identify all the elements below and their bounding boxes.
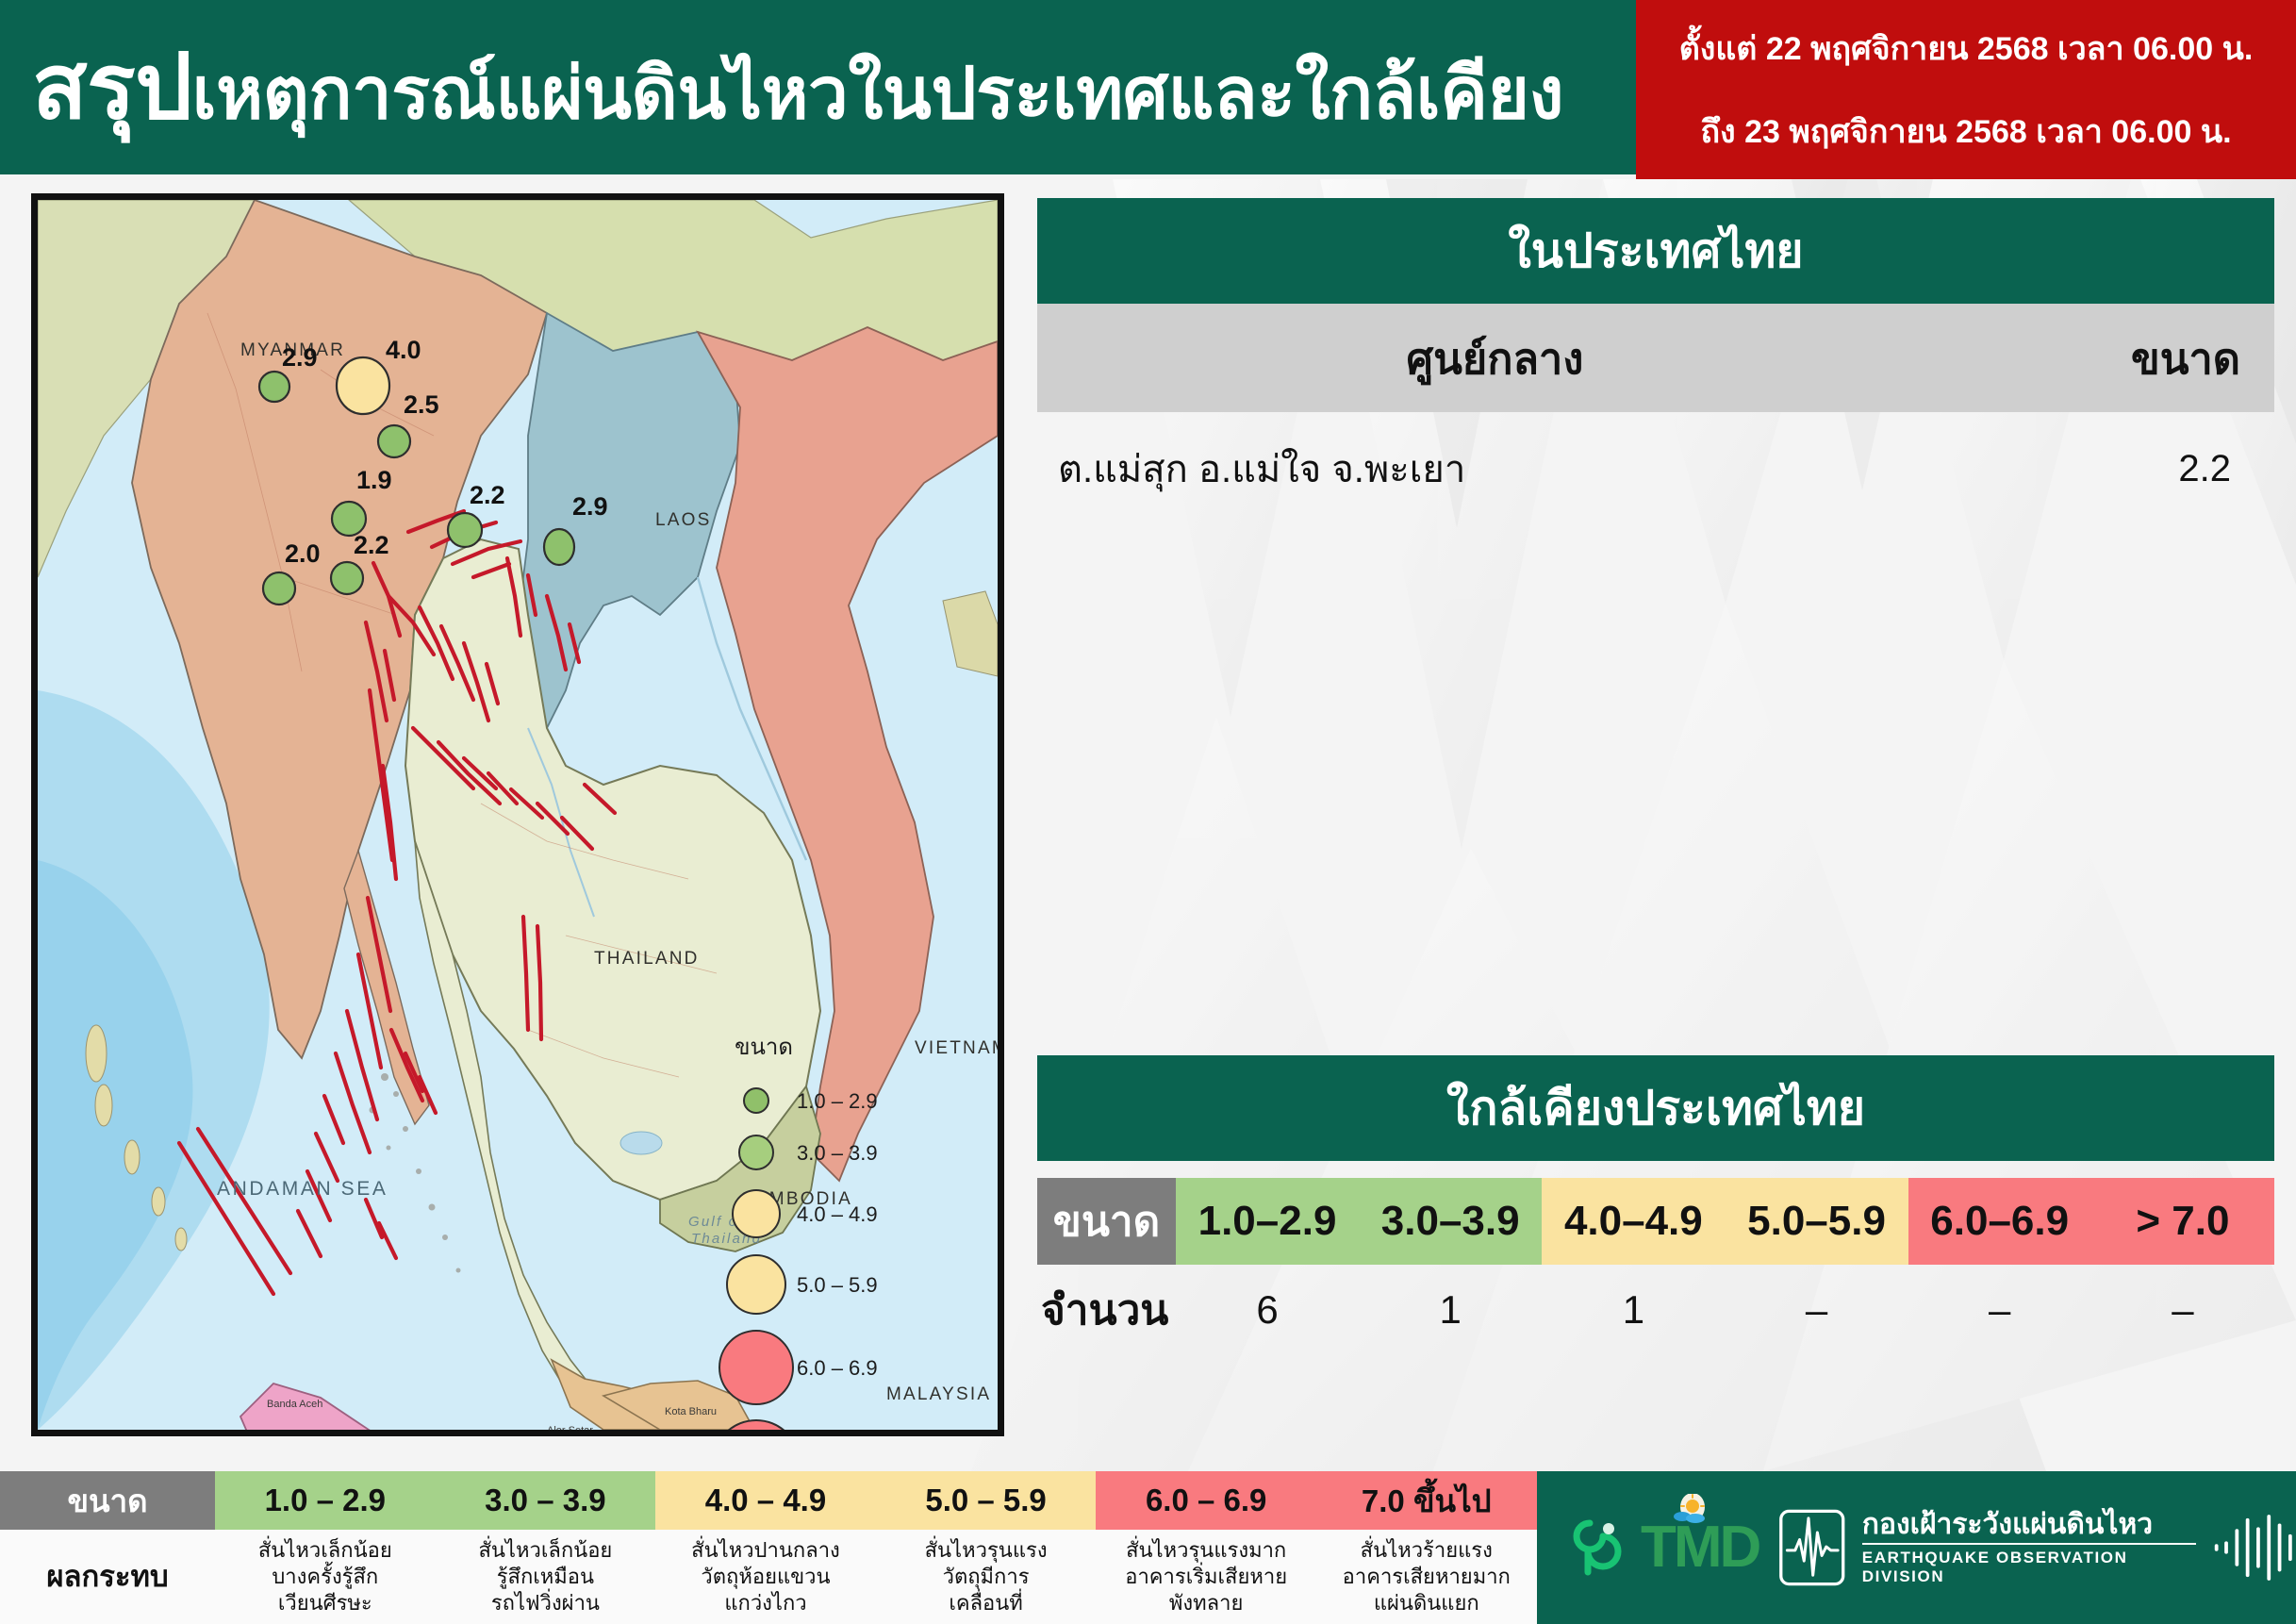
right-content-column: ในประเทศไทย ศูนย์กลาง ขนาด ต.แม่สุก อ.แม…: [1037, 198, 2274, 1355]
legend-range-1: 1.0 – 2.9: [215, 1471, 436, 1530]
legend-grid-wrapper: ขนาด ผลกระทบ 1.0 – 2.9 สั่นไหวเล็กน้อย บ…: [0, 1471, 1537, 1624]
date-from: ตั้งแต่ 22 พฤศจิกายน 2568 เวลา 06.00 น.: [1679, 23, 2254, 74]
band-5: 6.0–6.9: [1908, 1178, 2091, 1265]
column-header-magnitude: ขนาด: [1953, 304, 2274, 412]
effect-line: สั่นไหวเล็กน้อย: [258, 1537, 392, 1564]
cell-epicenter: ต.แม่สุก อ.แม่ใจ จ.พะเยา: [1037, 412, 1953, 525]
legend-range-3: 4.0 – 4.9: [655, 1471, 876, 1530]
quake-marker[interactable]: [337, 357, 389, 414]
legend-label: 1.0 – 2.9: [797, 1089, 878, 1113]
effect-line: บางครั้งรู้สึก: [272, 1564, 378, 1590]
effect-line: พังทลาย: [1169, 1590, 1243, 1616]
svg-text:Kota Bharu: Kota Bharu: [665, 1406, 717, 1417]
spacer: [1037, 525, 2274, 1055]
table-header-row: ศูนย์กลาง ขนาด: [1037, 304, 2274, 412]
effect-line: อาคารเริ่มเสียหาย: [1125, 1564, 1287, 1590]
magnitude-band-row: ขนาด 1.0–2.9 3.0–3.9 4.0–4.9 5.0–5.9 6.0…: [1037, 1178, 2274, 1265]
quake-marker[interactable]: [259, 372, 289, 402]
legend-effect-2: สั่นไหวเล็กน้อย รู้สึกเหมือน รถไฟวิ่งผ่า…: [436, 1530, 656, 1624]
legend-label-effect: ผลกระทบ: [0, 1530, 215, 1624]
legend-range-6: 7.0 ขึ้นไป: [1316, 1471, 1537, 1530]
svg-text:THAILAND: THAILAND: [594, 949, 700, 969]
effect-line: วัตถุมีการ: [943, 1564, 1030, 1590]
quake-marker[interactable]: [263, 572, 295, 605]
footer-branding: TMD กองเฝ้าระวังแผ่นดินไหว EARTHQUAKE OB…: [1537, 1471, 2296, 1624]
map-canvas: MYANMAR THAILAND LAOS VIETNAM CAMBODIA M…: [38, 200, 998, 1430]
band-1: 1.0–2.9: [1176, 1178, 1359, 1265]
count-6: –: [2091, 1287, 2274, 1333]
quake-magnitude-label: 2.2: [354, 531, 389, 559]
count-5: –: [1908, 1287, 2091, 1333]
quake-magnitude-label: 2.9: [572, 492, 608, 521]
page-header: สรุปเหตุการณ์แผ่นดินไหวในประเทศและใกล้เค…: [0, 0, 2296, 179]
legend-label: 4.0 – 4.9: [797, 1202, 878, 1226]
svg-text:MALAYSIA: MALAYSIA: [886, 1384, 991, 1404]
legend-label: 3.0 – 3.9: [797, 1141, 878, 1165]
quake-marker[interactable]: [544, 529, 574, 565]
count-1: 6: [1176, 1287, 1359, 1333]
date-to: ถึง 23 พฤศจิกายน 2568 เวลา 06.00 น.: [1700, 106, 2231, 157]
in-thailand-banner-label: ในประเทศไทย: [1508, 214, 1803, 289]
legend-effect-5: สั่นไหวรุนแรงมาก อาคารเริ่มเสียหาย พังทล…: [1096, 1530, 1316, 1624]
table-row[interactable]: ต.แม่สุก อ.แม่ใจ จ.พะเยา 2.2: [1037, 412, 2274, 525]
quake-magnitude-label: 1.9: [356, 466, 392, 494]
row-label-count: จำนวน: [1037, 1277, 1176, 1343]
page-title-rest: เหตุการณ์แผ่นดินไหวในประเทศและใกล้เคียง: [192, 54, 1564, 134]
legend-label-magnitude: ขนาด: [0, 1471, 215, 1530]
tmd-wordmark: TMD: [1641, 1518, 1759, 1577]
band-4: 5.0–5.9: [1725, 1178, 1908, 1265]
effect-line: แผ่นดินแยก: [1374, 1590, 1479, 1616]
band-6: > 7.0: [2091, 1178, 2274, 1265]
legend-column-2: 3.0 – 3.9 สั่นไหวเล็กน้อย รู้สึกเหมือน ร…: [436, 1471, 656, 1624]
tmd-emblem-icon: [1569, 1504, 1635, 1591]
eod-title-en: EARTHQUAKE OBSERVATION DIVISION: [1862, 1545, 2196, 1586]
effect-line: สั่นไหวเล็กน้อย: [478, 1537, 612, 1564]
in-thailand-table: ศูนย์กลาง ขนาด ต.แม่สุก อ.แม่ใจ จ.พะเยา …: [1037, 304, 2274, 525]
effect-line: สั่นไหวรุนแรง: [925, 1537, 1048, 1564]
legend-range-2: 3.0 – 3.9: [436, 1471, 656, 1530]
quake-magnitude-label: 2.9: [282, 343, 318, 372]
effect-line: รถไฟวิ่งผ่าน: [491, 1590, 600, 1616]
waveform-icon: [2211, 1511, 2296, 1584]
svg-text:Banda Aceh: Banda Aceh: [267, 1399, 322, 1410]
effect-line: เวียนศีรษะ: [278, 1590, 372, 1616]
effect-line: แกว่งไกว: [724, 1590, 806, 1616]
row-label-magnitude: ขนาด: [1037, 1178, 1176, 1265]
count-3: 1: [1542, 1287, 1725, 1333]
earthquake-map[interactable]: MYANMAR THAILAND LAOS VIETNAM CAMBODIA M…: [31, 193, 1004, 1436]
legend-effect-6: สั่นไหวร้ายแรง อาคารเสียหายมาก แผ่นดินแย…: [1316, 1530, 1537, 1624]
seismograph-icon: [1777, 1503, 1846, 1592]
svg-text:ANDAMAN SEA: ANDAMAN SEA: [217, 1178, 388, 1200]
header-title-bar: สรุปเหตุการณ์แผ่นดินไหวในประเทศและใกล้เค…: [0, 0, 1636, 174]
quake-marker[interactable]: [378, 425, 410, 457]
legend-column-1: 1.0 – 2.9 สั่นไหวเล็กน้อย บางครั้งรู้สึก…: [215, 1471, 436, 1624]
quake-magnitude-label: 2.0: [285, 539, 321, 568]
effect-line: อาคารเสียหายมาก: [1343, 1564, 1511, 1590]
page-title: สรุปเหตุการณ์แผ่นดินไหวในประเทศและใกล้เค…: [0, 42, 1563, 133]
near-thailand-banner-label: ใกล้เคียงประเทศไทย: [1446, 1071, 1865, 1146]
legend-effect-3: สั่นไหวปานกลาง วัตถุห้อยแขวน แกว่งไกว: [655, 1530, 876, 1624]
legend-column-5: 6.0 – 6.9 สั่นไหวรุนแรงมาก อาคารเริ่มเสี…: [1096, 1471, 1316, 1624]
legend-range-5: 6.0 – 6.9: [1096, 1471, 1316, 1530]
legend-effect-1: สั่นไหวเล็กน้อย บางครั้งรู้สึก เวียนศีรษ…: [215, 1530, 436, 1624]
magnitude-effect-legend: ขนาด ผลกระทบ 1.0 – 2.9 สั่นไหวเล็กน้อย บ…: [0, 1471, 2296, 1624]
effect-line: สั่นไหวร้ายแรง: [1361, 1537, 1493, 1564]
near-thailand-table: ขนาด 1.0–2.9 3.0–3.9 4.0–4.9 5.0–5.9 6.0…: [1037, 1178, 2274, 1355]
magnitude-count-row: จำนวน 6 1 1 – – –: [1037, 1265, 2274, 1355]
count-2: 1: [1359, 1287, 1542, 1333]
header-date-range: ตั้งแต่ 22 พฤศจิกายน 2568 เวลา 06.00 น. …: [1636, 0, 2296, 179]
legend-column-6: 7.0 ขึ้นไป สั่นไหวร้ายแรง อาคารเสียหายมา…: [1316, 1471, 1537, 1624]
quake-marker[interactable]: [448, 513, 482, 547]
column-header-epicenter: ศูนย์กลาง: [1037, 304, 1953, 412]
near-thailand-banner: ใกล้เคียงประเทศไทย: [1037, 1055, 2274, 1161]
count-4: –: [1725, 1287, 1908, 1333]
legend-label: 6.0 – 6.9: [797, 1356, 878, 1380]
effect-line: วัตถุห้อยแขวน: [701, 1564, 830, 1590]
tmd-logo: TMD: [1569, 1504, 1759, 1591]
quake-marker[interactable]: [331, 562, 363, 594]
effect-line: เคลื่อนที่: [949, 1590, 1022, 1616]
eod-title-th: กองเฝ้าระวังแผ่นดินไหว: [1862, 1509, 2196, 1545]
legend-column-3: 4.0 – 4.9 สั่นไหวปานกลาง วัตถุห้อยแขวน แ…: [655, 1471, 876, 1624]
band-3: 4.0–4.9: [1542, 1178, 1725, 1265]
svg-text:LAOS: LAOS: [655, 510, 712, 530]
cell-magnitude: 2.2: [1953, 412, 2274, 525]
legend-range-4: 5.0 – 5.9: [876, 1471, 1097, 1530]
effect-line: สั่นไหวปานกลาง: [691, 1537, 840, 1564]
quake-magnitude-label: 4.0: [386, 336, 421, 364]
page-title-lead: สรุป: [32, 37, 192, 138]
svg-text:VIETNAM: VIETNAM: [915, 1038, 998, 1058]
quake-magnitude-label: 2.2: [470, 481, 505, 509]
legend-title: ขนาด: [735, 1035, 793, 1060]
legend-label: 5.0 – 5.9: [797, 1273, 878, 1297]
eod-branding: กองเฝ้าระวังแผ่นดินไหว EARTHQUAKE OBSERV…: [1777, 1503, 2296, 1592]
svg-text:Alor Setar: Alor Setar: [547, 1425, 593, 1430]
in-thailand-banner: ในประเทศไทย: [1037, 198, 2274, 304]
legend-column-4: 5.0 – 5.9 สั่นไหวรุนแรง วัตถุมีการ เคลื่…: [876, 1471, 1097, 1624]
quake-magnitude-label: 2.5: [404, 390, 439, 419]
effect-line: สั่นไหวรุนแรงมาก: [1126, 1537, 1286, 1564]
band-2: 3.0–3.9: [1359, 1178, 1542, 1265]
legend-effect-4: สั่นไหวรุนแรง วัตถุมีการ เคลื่อนที่: [876, 1530, 1097, 1624]
legend-row-labels: ขนาด ผลกระทบ: [0, 1471, 215, 1624]
effect-line: รู้สึกเหมือน: [497, 1564, 594, 1590]
